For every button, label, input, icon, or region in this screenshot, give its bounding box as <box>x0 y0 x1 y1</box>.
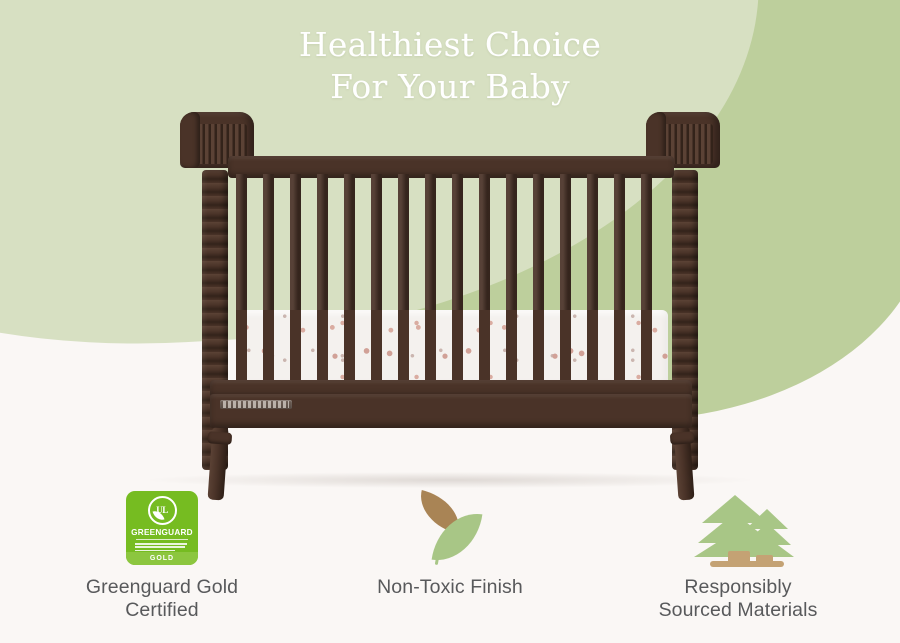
log-icon <box>710 561 784 567</box>
badge-non-toxic: Non-Toxic Finish <box>335 486 565 599</box>
trust-badges-row: UL GREENGUARD GOLD Greenguard Gold <box>0 486 900 636</box>
greenguard-gold-certification-icon: UL GREENGUARD GOLD <box>126 491 198 565</box>
headline-line-1: Healthiest Choice <box>0 24 900 66</box>
pine-trees-icon <box>690 489 786 567</box>
marketing-image-canvas: Healthiest Choice For Your Baby <box>0 0 900 643</box>
badge-caption-line-1: Greenguard Gold <box>86 576 238 599</box>
two-leaves-icon <box>411 491 489 565</box>
brand-plate-text <box>223 401 289 408</box>
badge-responsibly-sourced-caption: Responsibly Sourced Materials <box>659 576 818 622</box>
ul-circle-icon: UL <box>148 496 177 525</box>
headboard-scroll-left <box>180 112 200 168</box>
badge-greenguard-caption: Greenguard Gold Certified <box>86 576 238 622</box>
crib-brand-plate <box>220 400 292 409</box>
badge-greenguard-art: UL GREENGUARD GOLD <box>126 486 198 570</box>
badge-caption-line-2: Certified <box>86 599 238 622</box>
badge-responsibly-sourced: Responsibly Sourced Materials <box>623 486 853 622</box>
badge-greenguard: UL GREENGUARD GOLD Greenguard Gold <box>47 486 277 622</box>
crib-product-image <box>180 112 720 482</box>
badge-responsibly-sourced-art <box>690 486 786 570</box>
fine-print-line <box>135 550 175 552</box>
fine-print-line <box>135 543 187 545</box>
badge-caption-line-2: Sourced Materials <box>659 599 818 622</box>
badge-caption-line-1: Responsibly <box>659 576 818 599</box>
greenguard-wordmark: GREENGUARD <box>131 528 193 537</box>
crib-slats-lower <box>236 310 668 384</box>
greenguard-divider <box>136 539 188 540</box>
greenguard-tier-band: GOLD <box>126 552 198 565</box>
headline-line-2: For Your Baby <box>0 66 900 108</box>
headline: Healthiest Choice For Your Baby <box>0 24 900 108</box>
fine-print-line <box>135 546 185 548</box>
badge-non-toxic-art <box>411 486 489 570</box>
badge-caption-line-1: Non-Toxic Finish <box>377 576 523 599</box>
badge-non-toxic-caption: Non-Toxic Finish <box>377 576 523 599</box>
